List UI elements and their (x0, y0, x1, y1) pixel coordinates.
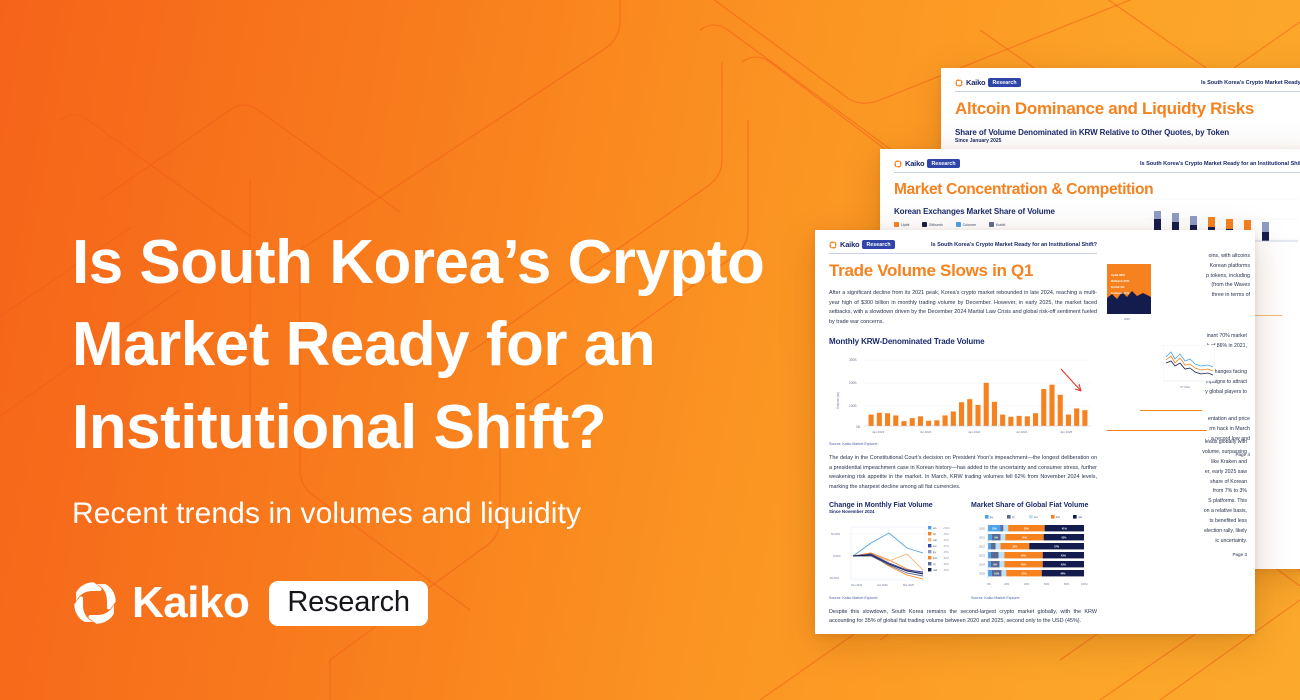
brand-lockup[interactable]: Kaiko Research (72, 578, 428, 628)
svg-text:20%: 20% (1004, 582, 1010, 586)
svg-text:Volume (bn): Volume (bn) (836, 392, 840, 409)
svg-text:100%: 100% (1081, 582, 1088, 586)
svg-text:Jul 2024: Jul 2024 (1016, 430, 1028, 434)
section-heading: Altcoin Dominance and Liquidty Risks (955, 100, 1300, 119)
side-line: : a record low and (1145, 435, 1250, 445)
svg-text:40%: 40% (1021, 554, 1027, 557)
chart2-title: Change in Monthly Fiat Volume (829, 502, 957, 509)
side-line: on a relative basis, (1105, 507, 1247, 517)
page-brand-pill: Research (988, 78, 1020, 86)
chart1-title: Monthly KRW-Denominated Trade Volume (829, 337, 1097, 346)
svg-text:2025: 2025 (979, 571, 985, 575)
page-brand-word: Kaiko (905, 159, 924, 168)
side-line: rm hack in March (1145, 425, 1250, 435)
svg-text:eur: eur (933, 545, 937, 548)
chart-subheading: Since January 2025 (955, 138, 1300, 144)
side-line: p tokens, including (1145, 272, 1250, 282)
page-header: Kaiko Research Is South Korea’s Crypto M… (829, 240, 1097, 249)
side-line: ts benefited less (1105, 517, 1247, 527)
svg-text:2020: 2020 (979, 526, 985, 530)
legend-item: Coinone (956, 222, 976, 227)
svg-text:usd: usd (933, 569, 938, 572)
svg-text:-38%: -38% (943, 551, 950, 554)
side-line: oins, with altcoins (1145, 252, 1250, 262)
svg-text:0B: 0B (856, 425, 860, 429)
page-running-title: Is South Korea’s Crypto Market Ready for… (1201, 80, 1300, 86)
svg-text:Nov 2024: Nov 2024 (851, 583, 863, 587)
chart3-block: Market Share of Global Fiat Volume jpytr… (971, 502, 1099, 600)
svg-text:krw: krw (1056, 516, 1060, 519)
svg-text:Jul 2023: Jul 2023 (920, 430, 932, 434)
svg-text:37%: 37% (1021, 572, 1027, 575)
chart2-subtitle: Since November 2024 (829, 509, 957, 514)
body-paragraph-3: Despite this slowdown, South Korea remai… (829, 608, 1097, 627)
chart3-source: Source: Kaiko Market Explorer. (971, 596, 1099, 600)
svg-text:300B: 300B (849, 358, 856, 362)
side-line: election rally, likely (1105, 527, 1247, 537)
page-brand: Kaiko Research (829, 240, 895, 249)
chart2-block: Change in Monthly Fiat Volume Since Nove… (829, 502, 957, 600)
svg-text:Upbit 98%: Upbit 98% (1111, 273, 1125, 277)
poster-canvas: Is South Korea’s Crypto Market Ready for… (0, 0, 1300, 700)
chart3-title: Market Share of Global Fiat Volume (971, 502, 1099, 509)
page-brand: Kaiko Research (955, 78, 1021, 87)
chart1-source: Source: Kaiko Market Explorer. (829, 442, 1097, 446)
svg-text:+54%: +54% (943, 527, 950, 530)
chart-change-monthly-fiat-volume: 50.00%0.00%-50.00% (829, 519, 957, 593)
svg-text:-31%: -31% (943, 539, 950, 542)
page-brand-pill: Research (927, 159, 959, 167)
page-header: Kaiko Research Is South Korea’s Crypto M… (955, 78, 1300, 87)
body-paragraph-1: After a significant decline from its 202… (829, 289, 1097, 328)
brand-research-pill: Research (269, 581, 428, 626)
svg-text:-62%: -62% (943, 557, 950, 560)
svg-text:Korbit 2%: Korbit 2% (1111, 285, 1125, 289)
side-line: from 7% to 3% (1105, 487, 1247, 497)
side-line: ic uncertainty. (1105, 537, 1247, 547)
svg-text:-50.00%: -50.00% (829, 576, 840, 580)
svg-text:2025: 2025 (1124, 317, 1130, 321)
svg-text:Jan 2025: Jan 2025 (877, 583, 888, 587)
svg-text:cop: cop (933, 539, 938, 542)
svg-text:13%: 13% (992, 527, 998, 530)
side-line: er, early 2025 saw (1105, 468, 1247, 478)
svg-text:41%: 41% (1062, 527, 1068, 530)
legend-item: Upbit (894, 222, 909, 227)
page-subtitle: Recent trends in volumes and liquidity (72, 497, 812, 531)
svg-text:Bithumb 20%: Bithumb 20% (1111, 279, 1130, 283)
side-page-number: Page 3 (1107, 552, 1247, 557)
svg-text:Jan 2024: Jan 2024 (968, 430, 981, 434)
brand-wordmark: Kaiko (132, 578, 249, 628)
chart-monthly-krw-volume: 300B200B 100B0B Volume (bn) Jan 2023Jul … (829, 351, 1097, 439)
svg-text:57%: 57% (1054, 545, 1060, 548)
svg-text:43%: 43% (1061, 563, 1067, 566)
body-paragraph-2: The delay in the Constitutional Court’s … (829, 454, 1097, 493)
side-line: share of Korean (1105, 478, 1247, 488)
svg-text:try: try (1012, 516, 1016, 519)
chart2-source: Source: Kaiko Market Explorer. (829, 596, 957, 600)
side-line: inant 70% market (1105, 332, 1247, 342)
svg-text:44%: 44% (1060, 572, 1066, 575)
svg-text:2021: 2021 (979, 535, 985, 539)
svg-text:krw: krw (933, 557, 937, 560)
page-title: Is South Korea’s Crypto Market Ready for… (72, 222, 812, 469)
trend-arrow-icon (1061, 369, 1081, 391)
legend-item: Korbit (989, 222, 1005, 227)
svg-text:Mar 2025: Mar 2025 (903, 583, 915, 587)
svg-text:0%: 0% (987, 582, 991, 586)
side-line: (from the Waves (1145, 281, 1250, 291)
side-line: entation and price (1145, 415, 1250, 425)
page-header: Kaiko Research Is South Korea’s Crypto M… (894, 159, 1300, 168)
svg-text:2023: 2023 (979, 553, 985, 557)
side-line: S platforms. This (1105, 497, 1247, 507)
page-running-title: Is South Korea’s Crypto Market Ready for… (1140, 161, 1300, 167)
svg-text:jpy: jpy (932, 551, 937, 554)
svg-text:brl: brl (933, 533, 936, 536)
chart-3y-max-line: 3Y Max (1163, 345, 1215, 389)
svg-text:60%: 60% (1044, 582, 1050, 586)
svg-text:-37%: -37% (943, 545, 950, 548)
page-brand-word: Kaiko (840, 240, 859, 249)
mid-overflow-text-2: entation and pricerm hack in March: a re… (1145, 415, 1250, 444)
svg-text:eur: eur (1034, 516, 1038, 519)
svg-text:3Y Max: 3Y Max (1180, 385, 1191, 389)
page-brand: Kaiko Research (894, 159, 960, 168)
side-line: y global players to (1105, 388, 1247, 398)
hero-block: Is South Korea’s Crypto Market Ready for… (72, 222, 812, 531)
svg-text:Coinone <1%: Coinone <1% (1111, 291, 1130, 295)
svg-text:ars: ars (933, 527, 937, 530)
svg-text:Jan 2023: Jan 2023 (872, 430, 885, 434)
header-divider (955, 91, 1300, 92)
section-rule (1140, 410, 1202, 411)
svg-text:43%: 43% (1061, 554, 1067, 557)
svg-text:100B: 100B (849, 404, 856, 408)
header-divider (829, 253, 1097, 254)
svg-text:-39%: -39% (943, 533, 950, 536)
svg-text:80%: 80% (1064, 582, 1070, 586)
page-brand-word: Kaiko (966, 78, 985, 87)
svg-text:10%: 10% (994, 572, 1000, 575)
side-line: like Kraken and (1105, 458, 1247, 468)
svg-text:-48%: -48% (943, 563, 950, 566)
svg-text:-40%: -40% (943, 569, 950, 572)
side-line: Korean platforms (1145, 262, 1250, 272)
svg-text:38%: 38% (1024, 527, 1030, 530)
svg-text:50.00%: 50.00% (831, 532, 841, 536)
svg-text:jpy: jpy (989, 516, 994, 519)
chart-heading: Share of Volume Denominated in KRW Relat… (955, 128, 1300, 137)
header-divider (894, 172, 1300, 173)
svg-text:42%: 42% (1061, 536, 1067, 539)
svg-text:30%: 30% (1012, 545, 1018, 548)
svg-text:Jan 2025: Jan 2025 (1060, 430, 1073, 434)
side-line: three in terms of (1145, 291, 1250, 301)
svg-text:40%: 40% (1021, 563, 1027, 566)
svg-text:40%: 40% (1024, 582, 1030, 586)
kaiko-pinwheel-icon (894, 160, 902, 168)
section-heading: Trade Volume Slows in Q1 (829, 262, 1097, 281)
kaiko-pinwheel-icon (72, 580, 118, 626)
svg-text:0.00%: 0.00% (833, 554, 841, 558)
kaiko-pinwheel-icon (829, 241, 837, 249)
svg-text:2024: 2024 (979, 562, 985, 566)
svg-text:usd: usd (1078, 516, 1083, 519)
legend-item: Bithumb (922, 222, 942, 227)
mid-page-number: Page 4 (1145, 452, 1250, 457)
svg-text:2022: 2022 (979, 544, 985, 548)
svg-text:40%: 40% (1022, 536, 1028, 539)
svg-text:200B: 200B (849, 381, 856, 385)
kaiko-pinwheel-icon (955, 79, 963, 87)
page-running-title: Is South Korea’s Crypto Market Ready for… (931, 242, 1097, 248)
page-brand-pill: Research (862, 240, 894, 248)
chart-market-share-global-fiat: jpytryeurkrwusd 202013%38%41%20219%40%42… (971, 513, 1099, 593)
svg-text:try: try (933, 563, 937, 566)
mid-overflow-text: oins, with altcoinsKorean platformsp tok… (1145, 252, 1250, 301)
